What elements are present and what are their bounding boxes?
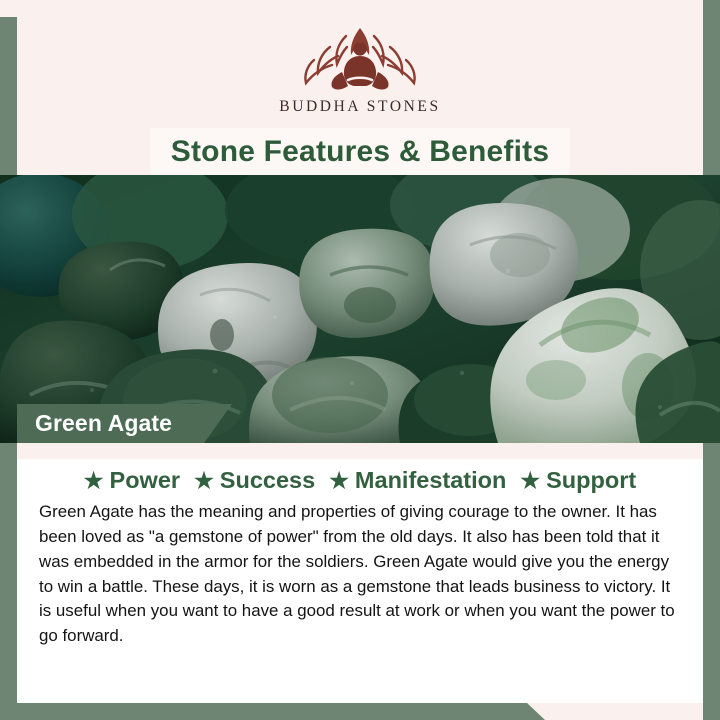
- benefit-label: Manifestation: [355, 467, 506, 494]
- benefit-label: Power: [110, 467, 181, 494]
- frame-band-bottom: [0, 703, 545, 720]
- brand-name: BUDDHA STONES: [279, 98, 440, 116]
- divider-strip: [17, 443, 703, 459]
- brand-logo: BUDDHA STONES: [17, 22, 703, 116]
- benefits-row: ★ Power ★ Success ★ Manifestation ★ Supp…: [17, 467, 703, 494]
- page-title: Stone Features & Benefits: [171, 135, 549, 169]
- stone-photo: [0, 175, 720, 443]
- poster-header: BUDDHA STONES Stone Features & Benefits: [17, 0, 703, 175]
- star-icon: ★: [194, 470, 214, 492]
- stone-name: Green Agate: [35, 410, 172, 437]
- stone-description: Green Agate has the meaning and properti…: [39, 500, 681, 649]
- star-icon: ★: [520, 470, 540, 492]
- benefit-item-power: ★ Power: [84, 467, 180, 494]
- stone-info-poster: BUDDHA STONES Stone Features & Benefits: [0, 0, 720, 720]
- benefit-item-manifestation: ★ Manifestation: [329, 467, 506, 494]
- benefit-item-support: ★ Support: [520, 467, 636, 494]
- stone-name-ribbon: Green Agate: [17, 404, 232, 443]
- lotus-meditation-icon: [280, 22, 440, 94]
- green-agate-stones-illustration: [0, 175, 720, 443]
- star-icon: ★: [84, 470, 104, 492]
- page-title-box: Stone Features & Benefits: [150, 128, 570, 175]
- benefit-label: Support: [546, 467, 636, 494]
- content-card: ★ Power ★ Success ★ Manifestation ★ Supp…: [17, 459, 703, 703]
- benefit-label: Success: [220, 467, 315, 494]
- benefit-item-success: ★ Success: [194, 467, 315, 494]
- star-icon: ★: [329, 470, 349, 492]
